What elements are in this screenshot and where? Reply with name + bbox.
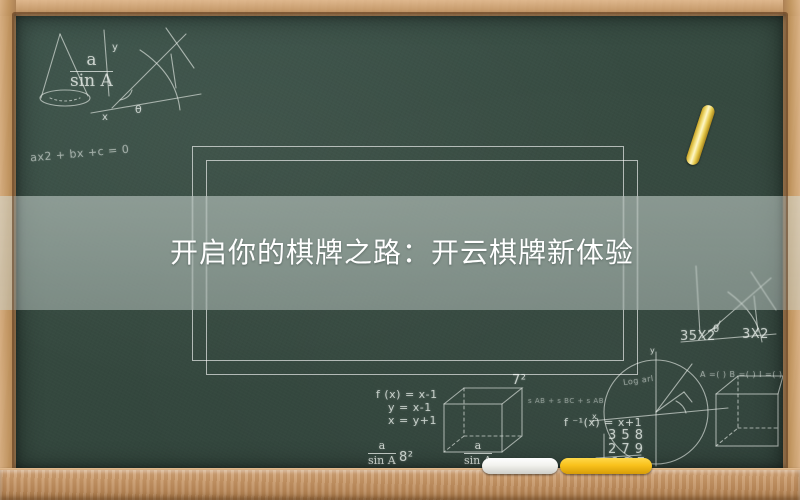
board-inner-shadow	[14, 14, 786, 470]
banner-image: a sin A y x θ ax2 + bx +c = 0 f (x) = x-…	[0, 0, 800, 500]
yellow-chalk-in-tray	[560, 458, 652, 474]
white-chalk-in-tray	[482, 458, 558, 474]
chalk-ledge	[0, 470, 800, 500]
